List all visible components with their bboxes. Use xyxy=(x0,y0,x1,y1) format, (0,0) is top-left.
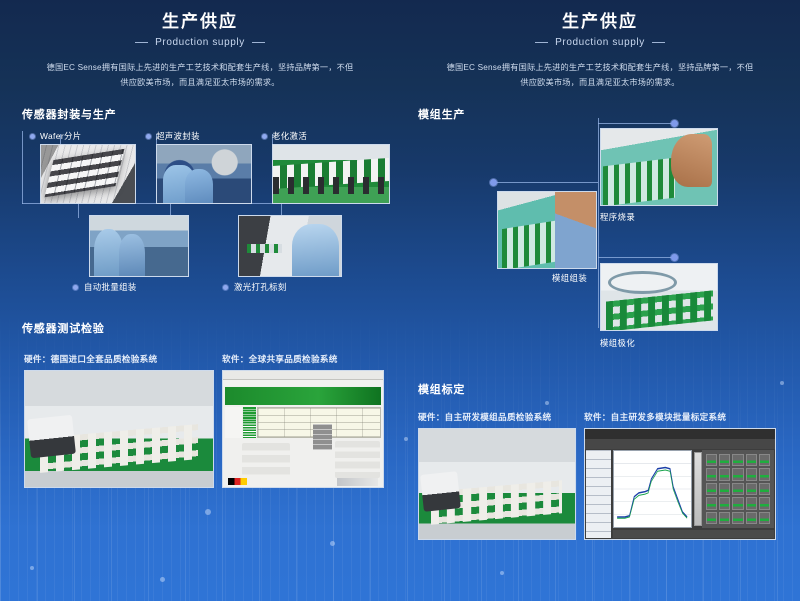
connector-vertical-step4 xyxy=(78,203,79,218)
photo-calibration-hardware xyxy=(418,428,576,540)
calibration-cell xyxy=(759,454,770,466)
bullet-auto-assembly xyxy=(73,285,78,290)
photo-auto-assembly-image xyxy=(90,216,188,276)
bullet-laser-marking xyxy=(223,285,228,290)
photo-calibration-software xyxy=(584,428,776,540)
calibration-module-grid xyxy=(702,450,774,528)
calibration-cell xyxy=(706,483,717,495)
subtitle-text-right: Production supply xyxy=(555,37,645,48)
calibration-cell xyxy=(732,483,743,495)
software-window-calibration xyxy=(585,429,775,539)
calibration-cell xyxy=(759,468,770,480)
calibration-cell xyxy=(746,454,757,466)
poster-canvas: 生产供应 Production supply 德国EC Sense拥有国际上先进… xyxy=(0,0,800,601)
page-title-left: 生产供应 xyxy=(0,10,400,34)
calibration-cell xyxy=(759,483,770,495)
calibration-cell xyxy=(746,483,757,495)
connector-vertical-root xyxy=(22,131,23,204)
photo-ultrasonic xyxy=(156,144,252,204)
caption-aging: 老化激活 xyxy=(272,130,307,142)
photo-wafer-image xyxy=(41,145,135,203)
subtitle-dash-right-end xyxy=(652,42,665,43)
page-subtitle-left: Production supply xyxy=(0,37,400,48)
calibration-cell xyxy=(746,512,757,524)
caption-ultrasonic: 超声波封装 xyxy=(156,130,200,142)
calibration-toolbar xyxy=(585,439,775,449)
header-right: 生产供应 Production supply 德国EC Sense拥有国际上先进… xyxy=(400,10,800,90)
calibration-line-chart xyxy=(613,450,693,528)
software-left-buttons xyxy=(242,443,290,478)
section-title-sensor-testing: 传感器测试检验 xyxy=(22,320,105,336)
calibration-scale-bar xyxy=(694,452,702,526)
caption-auto-assembly: 自动批量组装 xyxy=(84,281,137,293)
calibration-cell xyxy=(719,468,730,480)
photo-aging-image xyxy=(273,145,389,203)
photo-calibration-hardware-image xyxy=(419,429,575,539)
label-sensor-testing-hardware: 硬件：德国进口全套品质检验系统 xyxy=(24,353,157,365)
subtitle-dash-left-end xyxy=(252,42,265,43)
photo-wafer xyxy=(40,144,136,204)
section-title-module-calibration: 模组标定 xyxy=(418,381,465,397)
label-module-calibration-hardware: 硬件：自主研发模组品质检验系统 xyxy=(418,411,551,423)
software-brand-logo xyxy=(337,478,379,486)
software-window-quality-inspection xyxy=(223,371,383,487)
calibration-cell xyxy=(746,468,757,480)
software-selected-block xyxy=(313,424,332,450)
photo-testing-software xyxy=(222,370,384,488)
header-left: 生产供应 Production supply 德国EC Sense拥有国际上先进… xyxy=(0,10,400,90)
connector-vertical-module-root xyxy=(598,118,599,328)
calibration-cell xyxy=(732,454,743,466)
connector-horizontal-polarization xyxy=(598,257,674,258)
software-status-bars xyxy=(243,407,256,438)
calibration-cell xyxy=(732,468,743,480)
bullet-aging xyxy=(262,134,267,139)
photo-testing-hardware-image xyxy=(25,371,213,487)
photo-module-assembly-image xyxy=(498,192,596,268)
label-module-calibration-software: 软件：自主研发多模块批量标定系统 xyxy=(584,411,726,423)
software-titlebar xyxy=(223,371,383,380)
photo-auto-assembly xyxy=(89,215,189,277)
software-green-banner xyxy=(225,387,382,404)
caption-wafer: Wafer分片 xyxy=(40,130,82,142)
calibration-bottom-buttons xyxy=(613,530,775,539)
photo-module-polarization-image xyxy=(601,264,717,330)
subtitle-text-left: Production supply xyxy=(155,37,245,48)
calibration-cell xyxy=(719,483,730,495)
calibration-titlebar xyxy=(585,429,775,439)
caption-module-assembly: 模组组装 xyxy=(552,272,587,284)
photo-testing-hardware xyxy=(24,370,214,488)
calibration-cell xyxy=(706,454,717,466)
photo-calibration-software-image xyxy=(585,429,775,539)
photo-testing-software-image xyxy=(223,371,383,487)
calibration-cell xyxy=(732,497,743,509)
calibration-chart-svg xyxy=(614,451,692,527)
calibration-cell xyxy=(719,497,730,509)
photo-ultrasonic-image xyxy=(157,145,251,203)
calibration-cell xyxy=(759,512,770,524)
page-description-left: 德国EC Sense拥有国际上先进的生产工艺技术和配套生产线，坚持品牌第一，不但… xyxy=(43,60,357,90)
caption-program-burning: 程序烧录 xyxy=(600,211,635,223)
photo-aging xyxy=(272,144,390,204)
caption-module-polarization: 模组极化 xyxy=(600,337,635,349)
caption-laser-marking: 激光打孔标刻 xyxy=(234,281,287,293)
photo-laser-marking-image xyxy=(239,216,341,276)
photo-laser-marking xyxy=(238,215,342,277)
software-sidebar xyxy=(225,407,243,438)
connector-horizontal-burn xyxy=(598,123,674,124)
calibration-cell xyxy=(759,497,770,509)
page-title-right: 生产供应 xyxy=(400,10,800,34)
software-menubar xyxy=(223,380,383,386)
bullet-ultrasonic xyxy=(146,134,151,139)
section-title-sensor-packaging: 传感器封装与生产 xyxy=(22,106,116,122)
calibration-cell xyxy=(719,512,730,524)
photo-program-burning xyxy=(600,128,718,206)
subtitle-dash-right-start xyxy=(535,42,548,43)
calibration-cell xyxy=(719,454,730,466)
label-sensor-testing-software: 软件：全球共享品质检验系统 xyxy=(222,353,338,365)
calibration-cell xyxy=(746,497,757,509)
calibration-cell xyxy=(732,512,743,524)
bullet-polarization xyxy=(671,254,678,261)
calibration-parameter-panel xyxy=(586,450,611,538)
bullet-wafer xyxy=(30,134,35,139)
software-flag-icons xyxy=(228,478,247,485)
photo-module-assembly xyxy=(497,191,597,269)
calibration-cell xyxy=(706,497,717,509)
calibration-cell xyxy=(706,468,717,480)
page-subtitle-right: Production supply xyxy=(400,37,800,48)
connector-horizontal-assembly xyxy=(493,182,598,183)
section-title-module-production: 模组生产 xyxy=(418,106,465,122)
bullet-burn xyxy=(671,120,678,127)
bullet-module-assembly xyxy=(490,179,497,186)
photo-program-burning-image xyxy=(601,129,717,205)
calibration-cell xyxy=(706,512,717,524)
page-description-right: 德国EC Sense拥有国际上先进的生产工艺技术和配套生产线，坚持品牌第一，不但… xyxy=(443,60,757,90)
software-right-buttons xyxy=(335,441,380,478)
photo-module-polarization xyxy=(600,263,718,331)
subtitle-dash-left-start xyxy=(135,42,148,43)
